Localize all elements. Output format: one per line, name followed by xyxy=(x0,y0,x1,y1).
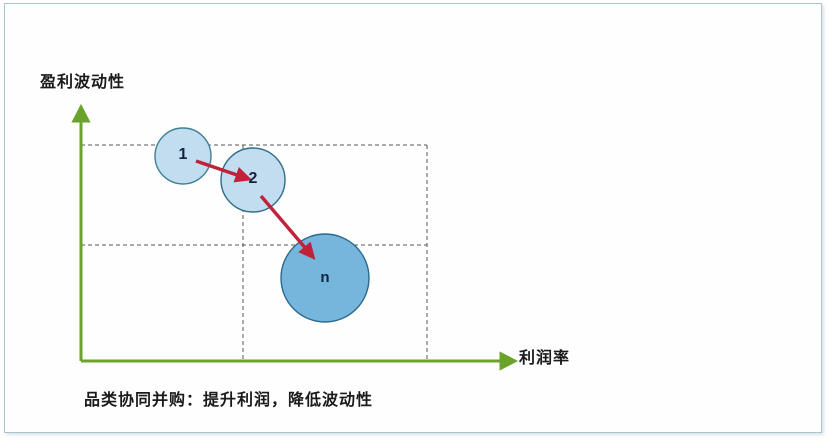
bubble-2-label: 2 xyxy=(243,170,263,188)
axes xyxy=(81,118,504,361)
y-axis-label: 盈利波动性 xyxy=(40,68,125,92)
arrow-2-to-n xyxy=(261,196,307,250)
diagram-caption: 品类协同并购：提升利润，降低波动性 xyxy=(84,386,373,410)
diagram-svg xyxy=(0,0,830,441)
x-axis-label: 利润率 xyxy=(519,344,570,368)
slide-canvas: 1 2 n 盈利波动性 利润率 品类协同并购：提升利润，降低波动性 xyxy=(0,0,830,441)
bubble-1-label: 1 xyxy=(173,146,193,164)
bubble-n-label: n xyxy=(315,269,335,286)
